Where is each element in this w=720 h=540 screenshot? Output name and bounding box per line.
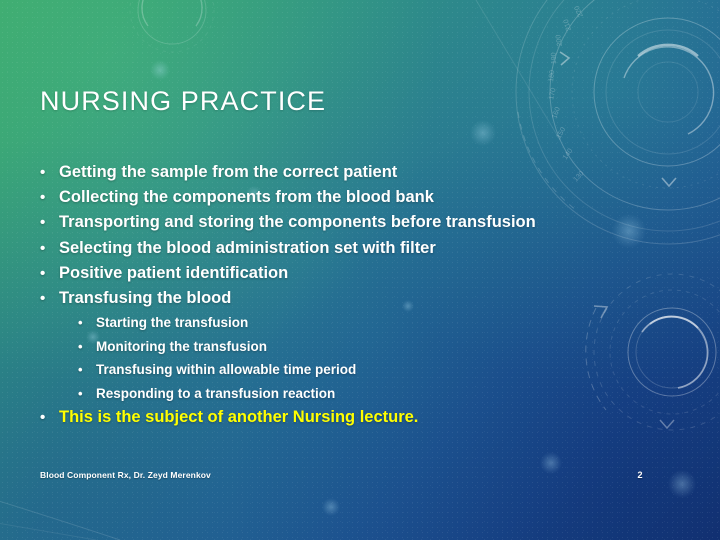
- svg-text:150: 150: [556, 126, 568, 140]
- bullet-text: Positive patient identification: [59, 261, 680, 286]
- bullet-marker-icon: •: [40, 236, 59, 261]
- bullet-text: Starting the transfusion: [96, 311, 680, 335]
- bokeh-particle: [150, 60, 170, 80]
- bullet-item: •Transfusing within allowable time perio…: [40, 358, 680, 382]
- bullet-item: •This is the subject of another Nursing …: [40, 405, 680, 430]
- bullet-item: •Positive patient identification: [40, 261, 680, 286]
- bokeh-particle: [470, 120, 496, 146]
- svg-text:220: 220: [574, 4, 585, 18]
- bullet-text: Getting the sample from the correct pati…: [59, 160, 680, 185]
- bullet-marker-icon: •: [40, 210, 59, 235]
- bullet-item: •Starting the transfusion: [40, 311, 680, 335]
- bullet-item: •Collecting the components from the bloo…: [40, 185, 680, 210]
- bokeh-particle: [540, 452, 562, 474]
- bullet-text: Collecting the components from the blood…: [59, 185, 680, 210]
- ring-top-left: [130, 0, 214, 52]
- bullet-text: Monitoring the transfusion: [96, 335, 680, 359]
- bullet-item: •Getting the sample from the correct pat…: [40, 160, 680, 185]
- svg-text:200: 200: [555, 34, 564, 47]
- bullet-item: •Responding to a transfusion reaction: [40, 382, 680, 406]
- bullet-marker-icon: •: [40, 160, 59, 185]
- bullet-list: •Getting the sample from the correct pat…: [40, 160, 680, 430]
- bullet-text: Responding to a transfusion reaction: [96, 382, 680, 406]
- slide-title: NURSING PRACTICE: [40, 86, 326, 117]
- bullet-item: •Selecting the blood administration set …: [40, 236, 680, 261]
- bokeh-particle: [668, 470, 696, 498]
- bullet-item: •Transporting and storing the components…: [40, 210, 680, 235]
- bullet-marker-icon: •: [78, 335, 96, 359]
- bullet-item: •Monitoring the transfusion: [40, 335, 680, 359]
- svg-text:170: 170: [548, 87, 557, 100]
- bullet-marker-icon: •: [40, 261, 59, 286]
- sweep-bottom-left: [0, 492, 120, 540]
- bullet-marker-icon: •: [78, 311, 96, 335]
- bullet-text: Selecting the blood administration set w…: [59, 236, 680, 261]
- compass-dial-labels: 150 160 170 180 190 200 210 220 140 130: [548, 4, 586, 183]
- bullet-item: •Transfusing the blood: [40, 286, 680, 311]
- svg-text:180: 180: [548, 70, 556, 82]
- bullet-text: This is the subject of another Nursing l…: [59, 405, 680, 430]
- svg-text:160: 160: [551, 106, 562, 119]
- bullet-marker-icon: •: [78, 382, 96, 406]
- bullet-text: Transporting and storing the components …: [59, 210, 680, 235]
- bullet-text: Transfusing within allowable time period: [96, 358, 680, 382]
- bullet-marker-icon: •: [40, 286, 59, 311]
- bokeh-particle: [322, 498, 340, 516]
- slide-canvas: 150 160 170 180 190 200 210 220 140 130: [0, 0, 720, 540]
- slide-page-number: 2: [620, 470, 660, 480]
- footer-attribution: Blood Component Rx, Dr. Zeyd Merenkov: [40, 470, 211, 480]
- bullet-marker-icon: •: [40, 405, 59, 430]
- svg-text:210: 210: [563, 18, 573, 31]
- bullet-marker-icon: •: [78, 358, 96, 382]
- bullet-marker-icon: •: [40, 185, 59, 210]
- bullet-text: Transfusing the blood: [59, 286, 680, 311]
- svg-text:190: 190: [551, 52, 558, 64]
